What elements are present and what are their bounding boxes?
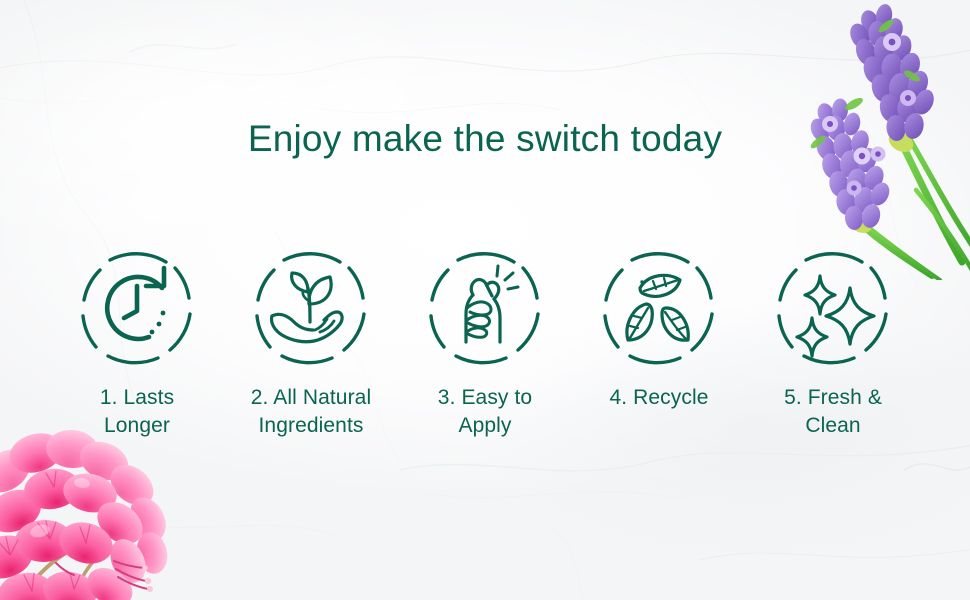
feature-label-line1: 4. Recycle (609, 384, 708, 412)
feature-label: 2. All Natural Ingredients (251, 384, 371, 439)
feature-label-line1: 2. All Natural (251, 384, 371, 412)
feature-label-line2: Apply (438, 412, 532, 440)
feature-label: 4. Recycle (609, 384, 708, 412)
feature-label: 3. Easy to Apply (438, 384, 532, 439)
feature-list: 1. Lasts Longer (52, 246, 918, 439)
snapping-fingers-icon (422, 246, 548, 372)
sparkles-icon (770, 246, 896, 372)
feature-label-line2: Longer (100, 412, 174, 440)
feature-label-line2: Clean (784, 412, 882, 440)
feature-label-line2: Ingredients (251, 412, 371, 440)
feature-label-line1: 1. Lasts (100, 384, 174, 412)
hand-holding-sprout-icon (248, 246, 374, 372)
feature-item-fresh-and-clean[interactable]: 5. Fresh & Clean (748, 246, 918, 439)
clock-arrow-icon (74, 246, 200, 372)
feature-item-lasts-longer[interactable]: 1. Lasts Longer (52, 246, 222, 439)
feature-item-recycle[interactable]: 4. Recycle (574, 246, 744, 412)
feature-label-line1: 5. Fresh & (784, 384, 882, 412)
product-feature-banner: Enjoy make the switch today (0, 0, 970, 600)
feature-item-easy-to-apply[interactable]: 3. Easy to Apply (400, 246, 570, 439)
feature-label: 5. Fresh & Clean (784, 384, 882, 439)
three-leaves-recycle-icon (596, 246, 722, 372)
feature-item-all-natural-ingredients[interactable]: 2. All Natural Ingredients (226, 246, 396, 439)
page-title: Enjoy make the switch today (0, 118, 970, 160)
feature-label: 1. Lasts Longer (100, 384, 174, 439)
feature-label-line1: 3. Easy to (438, 384, 532, 412)
